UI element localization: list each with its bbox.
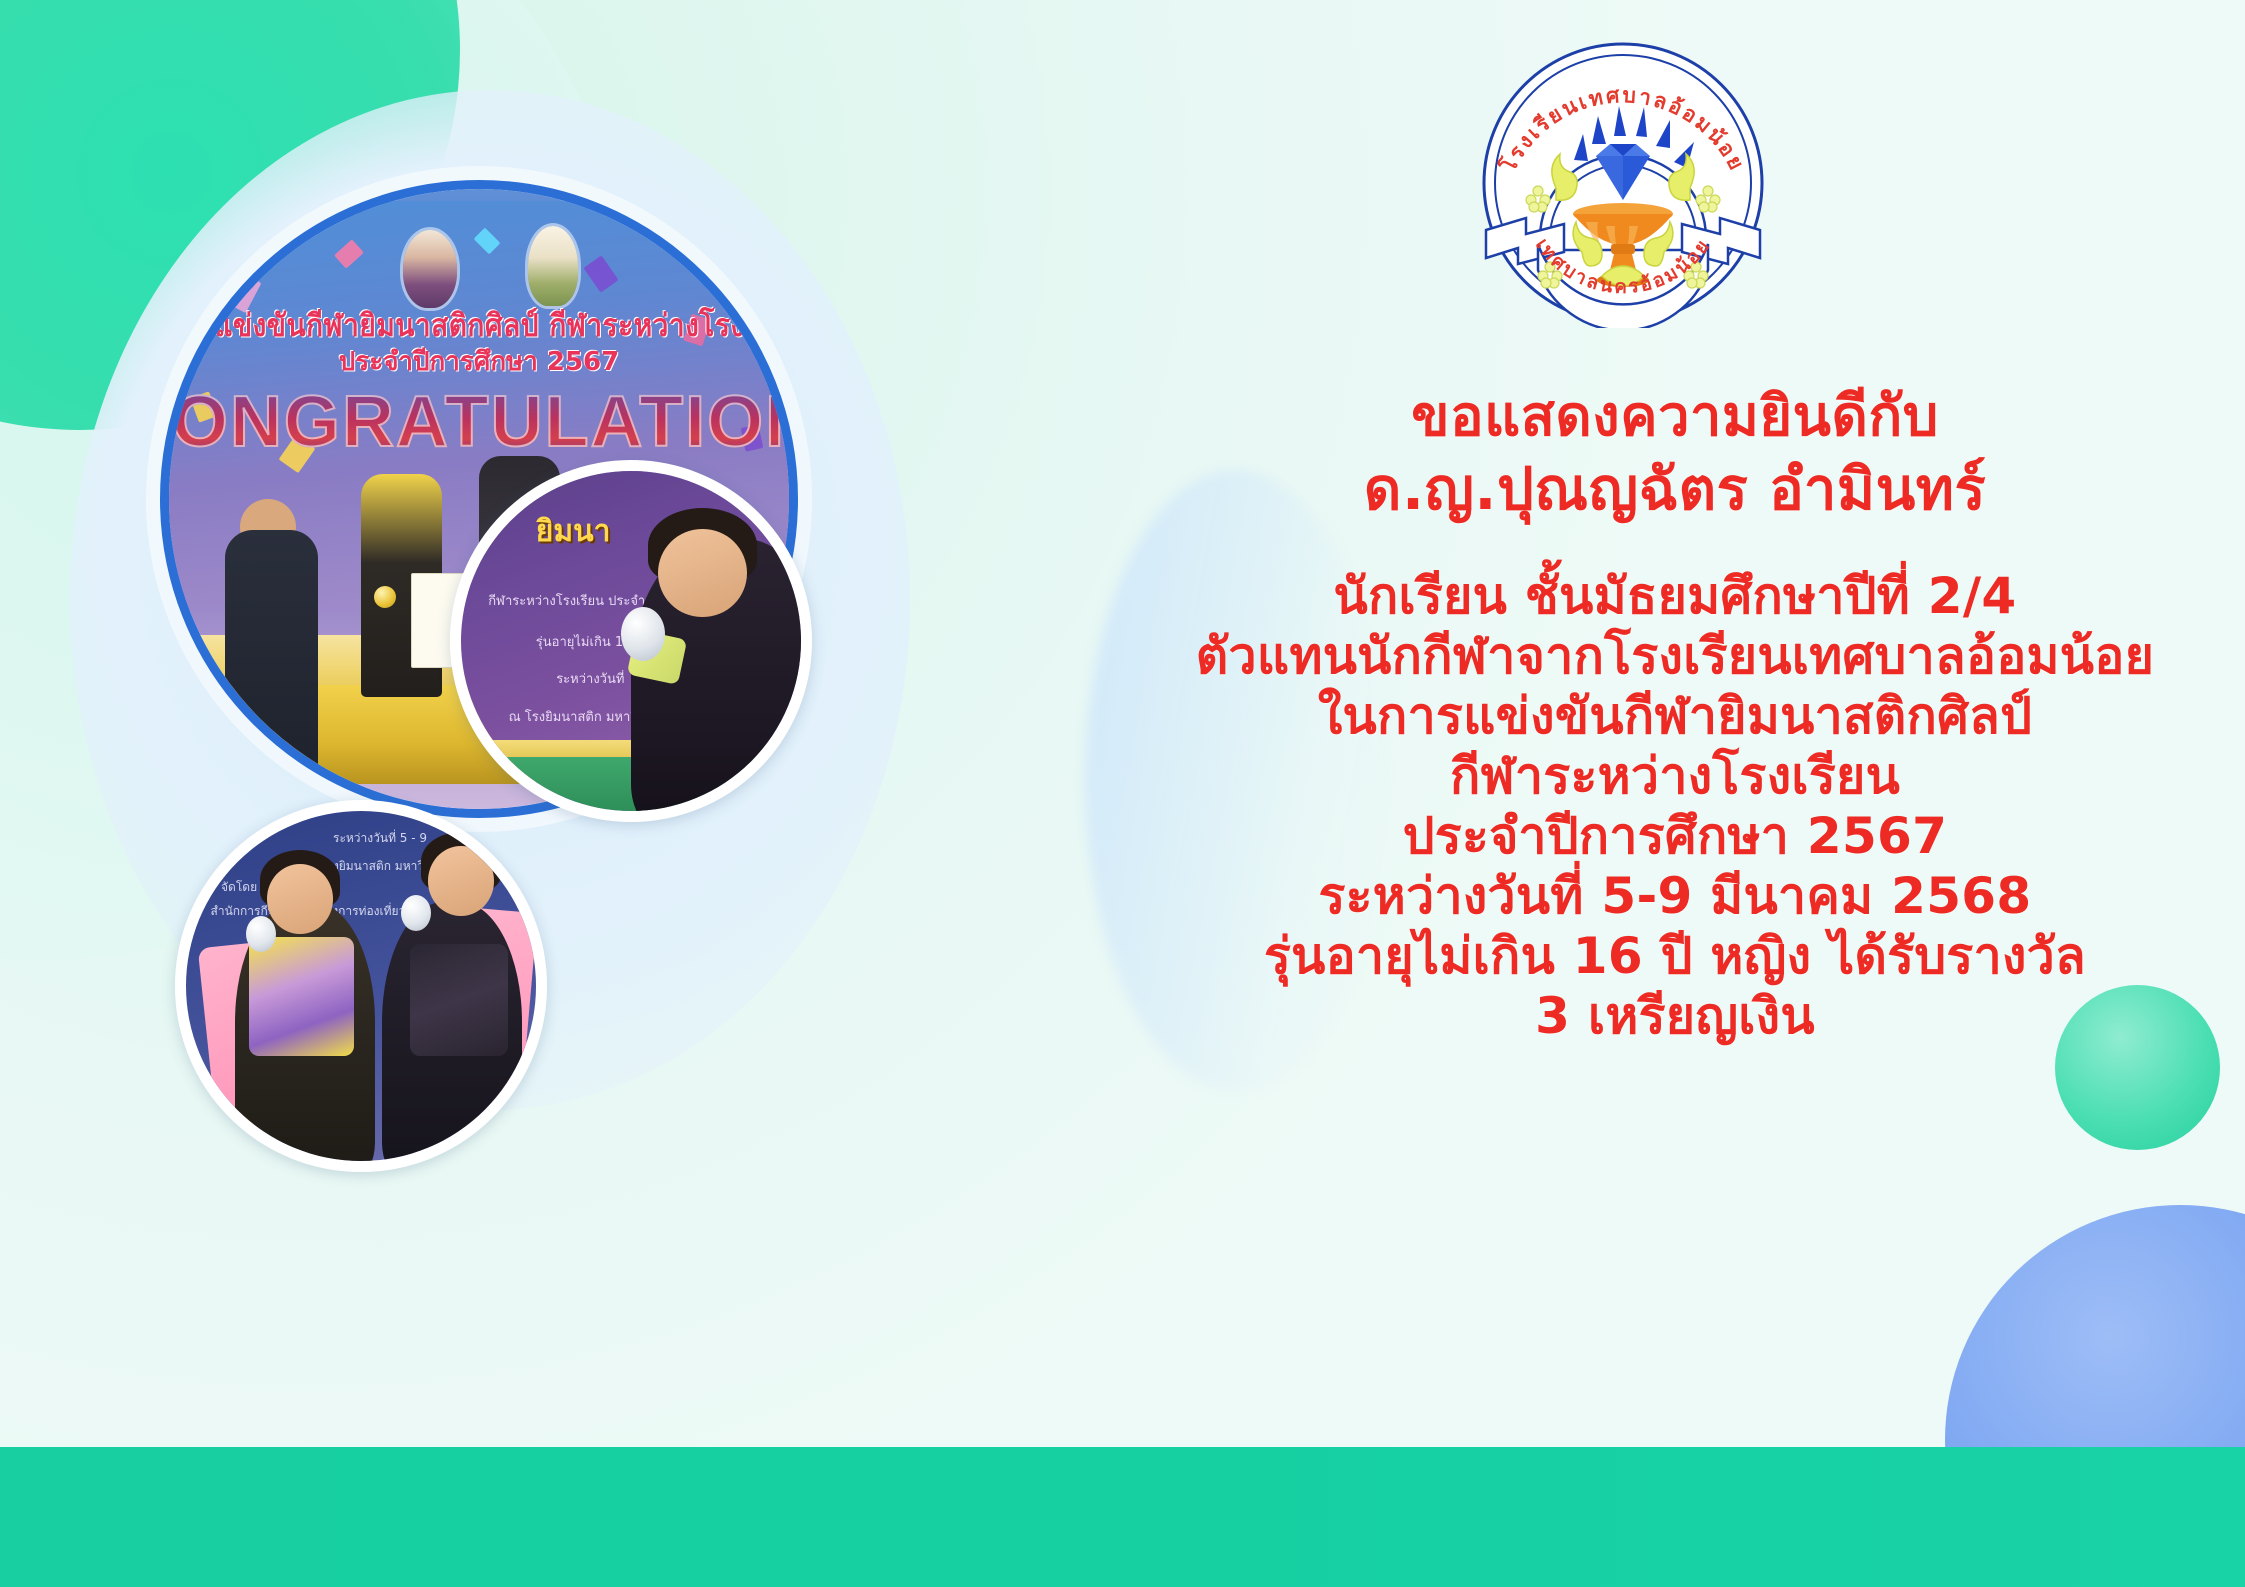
bottom-accent-bar: [0, 1447, 2245, 1587]
stage-banner-congratulations: CONGRATULATIONS: [169, 381, 789, 463]
second-photo-line-1: กีฬาระหว่างโรงเรียน ประจำ: [488, 590, 645, 611]
third-photo-bubble: ระหว่างวันที่ 5 - 9 ณ โรงยิมนาสติก มหาวิ…: [175, 800, 547, 1172]
second-photo-line-3: ระหว่างวันที่: [556, 668, 624, 689]
detail-line-3: ในการแข่งขันกีฬายิมนาสติกศิลป์: [1120, 687, 2230, 745]
gymnast-right-leotard: [410, 944, 508, 1056]
gymnast-left-head: [267, 864, 334, 934]
gymnast-right-head: [428, 846, 495, 916]
detail-line-2: ตัวแทนนักกีฬาจากโรงเรียนเทศบาลอ้อมน้อย: [1120, 627, 2230, 685]
gymnast-with-medal-photo: ยิมนา กีฬาระหว่างโรงเรียน ประจำ รุ่นอายุ…: [461, 471, 801, 811]
poster-canvas: การแข่งขันกีฬายิมนาสติกศิลป์ กีฬาระหว่าง…: [0, 0, 2245, 1587]
second-photo-gold-title: ยิมนา: [536, 508, 611, 555]
third-photo-line-3: จัดโดย: [221, 878, 257, 897]
student-name: ด.ญ.ปุณญฉัตร อำมินทร์: [1120, 456, 2230, 523]
detail-line-1: นักเรียน ชั้นมัธยมศึกษาปีที่ 2/4: [1120, 567, 2230, 625]
detail-line-8: 3 เหรียญเงิน: [1120, 987, 2230, 1045]
ministry-crest-icon: [528, 226, 578, 306]
detail-line-4: กีฬาระหว่างโรงเรียน: [1120, 747, 2230, 805]
silver-medal-left-icon: [246, 916, 276, 952]
second-photo-bubble: ยิมนา กีฬาระหว่างโรงเรียน ประจำ รุ่นอายุ…: [450, 460, 812, 822]
congratulation-text-block: ขอแสดงความยินดีกับ ด.ญ.ปุณญฉัตร อำมินทร์…: [1120, 385, 2230, 1045]
detail-line-7: รุ่นอายุไม่เกิน 16 ปี หญิง ได้รับรางวัล: [1120, 927, 2230, 985]
royal-crest-icon: [403, 230, 457, 308]
gymnast-left-leotard: [249, 937, 354, 1056]
school-logo: โรงเรียนเทศบาลอ้อมน้อย เทศบาลนครอ้อมน้อย: [1478, 38, 1768, 328]
photo-collage: การแข่งขันกีฬายิมนาสติกศิลป์ กีฬาระหว่าง…: [120, 160, 1120, 1310]
silver-medal-icon: [621, 607, 665, 661]
coach-body: [225, 530, 318, 809]
detail-line-6: ระหว่างวันที่ 5-9 มีนาคม 2568: [1120, 867, 2230, 925]
stage-banner-line-2: ประจำปีการศึกษา 2567: [169, 341, 789, 382]
gymnast-head: [658, 529, 746, 617]
athlete-1-medal: [374, 586, 396, 608]
text-spacer: [1120, 523, 2230, 565]
detail-line-5: ประจำปีการศึกษา 2567: [1120, 807, 2230, 865]
two-gymnasts-medals-photo: ระหว่างวันที่ 5 - 9 ณ โรงยิมนาสติก มหาวิ…: [186, 811, 536, 1161]
silver-medal-right-icon: [401, 895, 431, 931]
third-photo-line-1: ระหว่างวันที่ 5 - 9: [333, 829, 427, 848]
congrats-headline: ขอแสดงความยินดีกับ: [1120, 385, 2230, 450]
